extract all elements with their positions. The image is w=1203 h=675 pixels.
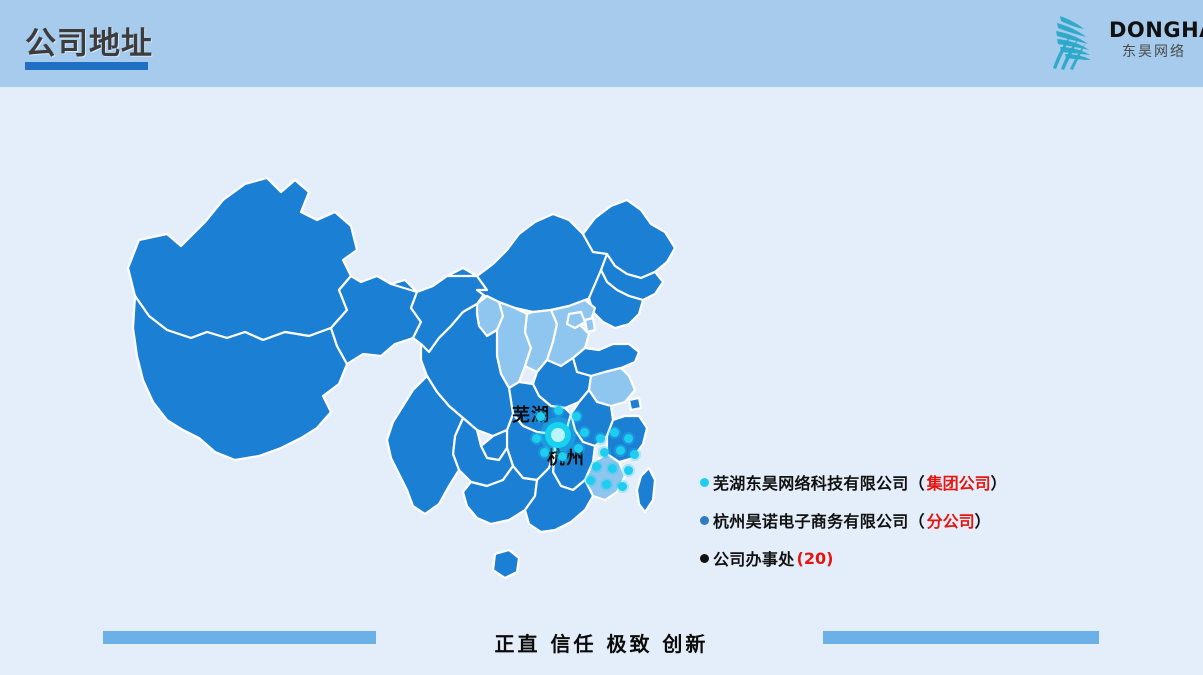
legend: 芜湖东昊网络科技有限公司 （ 集团公司 ） 杭州昊诺电子商务有限公司 （ 分公司…	[700, 463, 1130, 577]
slide-company-address: 公司地址 DONGHAO 东昊网络	[0, 0, 1203, 675]
marker-office[interactable]	[602, 480, 611, 489]
marker-office[interactable]	[630, 450, 639, 459]
marker-office[interactable]	[574, 444, 583, 453]
logo-subtitle: 东昊网络	[1109, 45, 1199, 59]
legend-bullet-blue	[700, 516, 709, 525]
marker-office[interactable]	[532, 434, 541, 443]
logo-text-block: DONGHAO 东昊网络	[1109, 20, 1199, 59]
marker-office[interactable]	[618, 482, 627, 491]
marker-office[interactable]	[586, 476, 595, 485]
marker-headquarters-wuhu[interactable]	[545, 422, 571, 448]
logo-name: DONGHAO	[1109, 20, 1199, 41]
marker-office[interactable]	[616, 446, 625, 455]
marker-office[interactable]	[608, 464, 617, 473]
legend-paren-open: （	[909, 470, 925, 494]
feather-fan-icon	[1047, 10, 1111, 72]
legend-tag: 集团公司	[927, 470, 991, 494]
legend-tag: 分公司	[927, 508, 975, 532]
legend-item-offices: 公司办事处 (20)	[700, 539, 1130, 577]
footer-bar-right	[823, 631, 1099, 644]
marker-office[interactable]	[610, 428, 619, 437]
legend-item-group-company: 芜湖东昊网络科技有限公司 （ 集团公司 ）	[700, 463, 1130, 501]
china-map-svg	[95, 100, 715, 620]
page-title: 公司地址	[25, 18, 153, 63]
legend-label: 芜湖东昊网络科技有限公司	[713, 470, 909, 494]
legend-bullet-black	[700, 554, 709, 563]
marker-office[interactable]	[580, 428, 589, 437]
marker-office[interactable]	[540, 448, 549, 457]
title-underline	[25, 62, 148, 70]
legend-bullet-cyan	[700, 478, 709, 487]
marker-office[interactable]	[592, 462, 601, 471]
marker-office[interactable]	[572, 412, 581, 421]
marker-office[interactable]	[536, 412, 545, 421]
marker-office[interactable]	[624, 434, 633, 443]
company-logo: DONGHAO 东昊网络	[1047, 8, 1197, 74]
legend-label: 公司办事处	[713, 546, 795, 570]
marker-office[interactable]	[558, 452, 567, 461]
legend-label: 杭州昊诺电子商务有限公司	[713, 508, 909, 532]
china-map: 芜湖 杭州	[95, 100, 715, 620]
legend-tag-count: (20)	[797, 549, 834, 568]
marker-office[interactable]	[554, 406, 563, 415]
marker-office[interactable]	[624, 466, 633, 475]
legend-paren-close: ）	[991, 470, 1007, 494]
header-band: 公司地址 DONGHAO 东昊网络	[0, 0, 1203, 87]
legend-paren-open: （	[909, 508, 925, 532]
marker-office[interactable]	[596, 434, 605, 443]
legend-paren-close: ）	[975, 508, 991, 532]
marker-office[interactable]	[600, 448, 609, 457]
legend-item-branch-company: 杭州昊诺电子商务有限公司 （ 分公司 ）	[700, 501, 1130, 539]
